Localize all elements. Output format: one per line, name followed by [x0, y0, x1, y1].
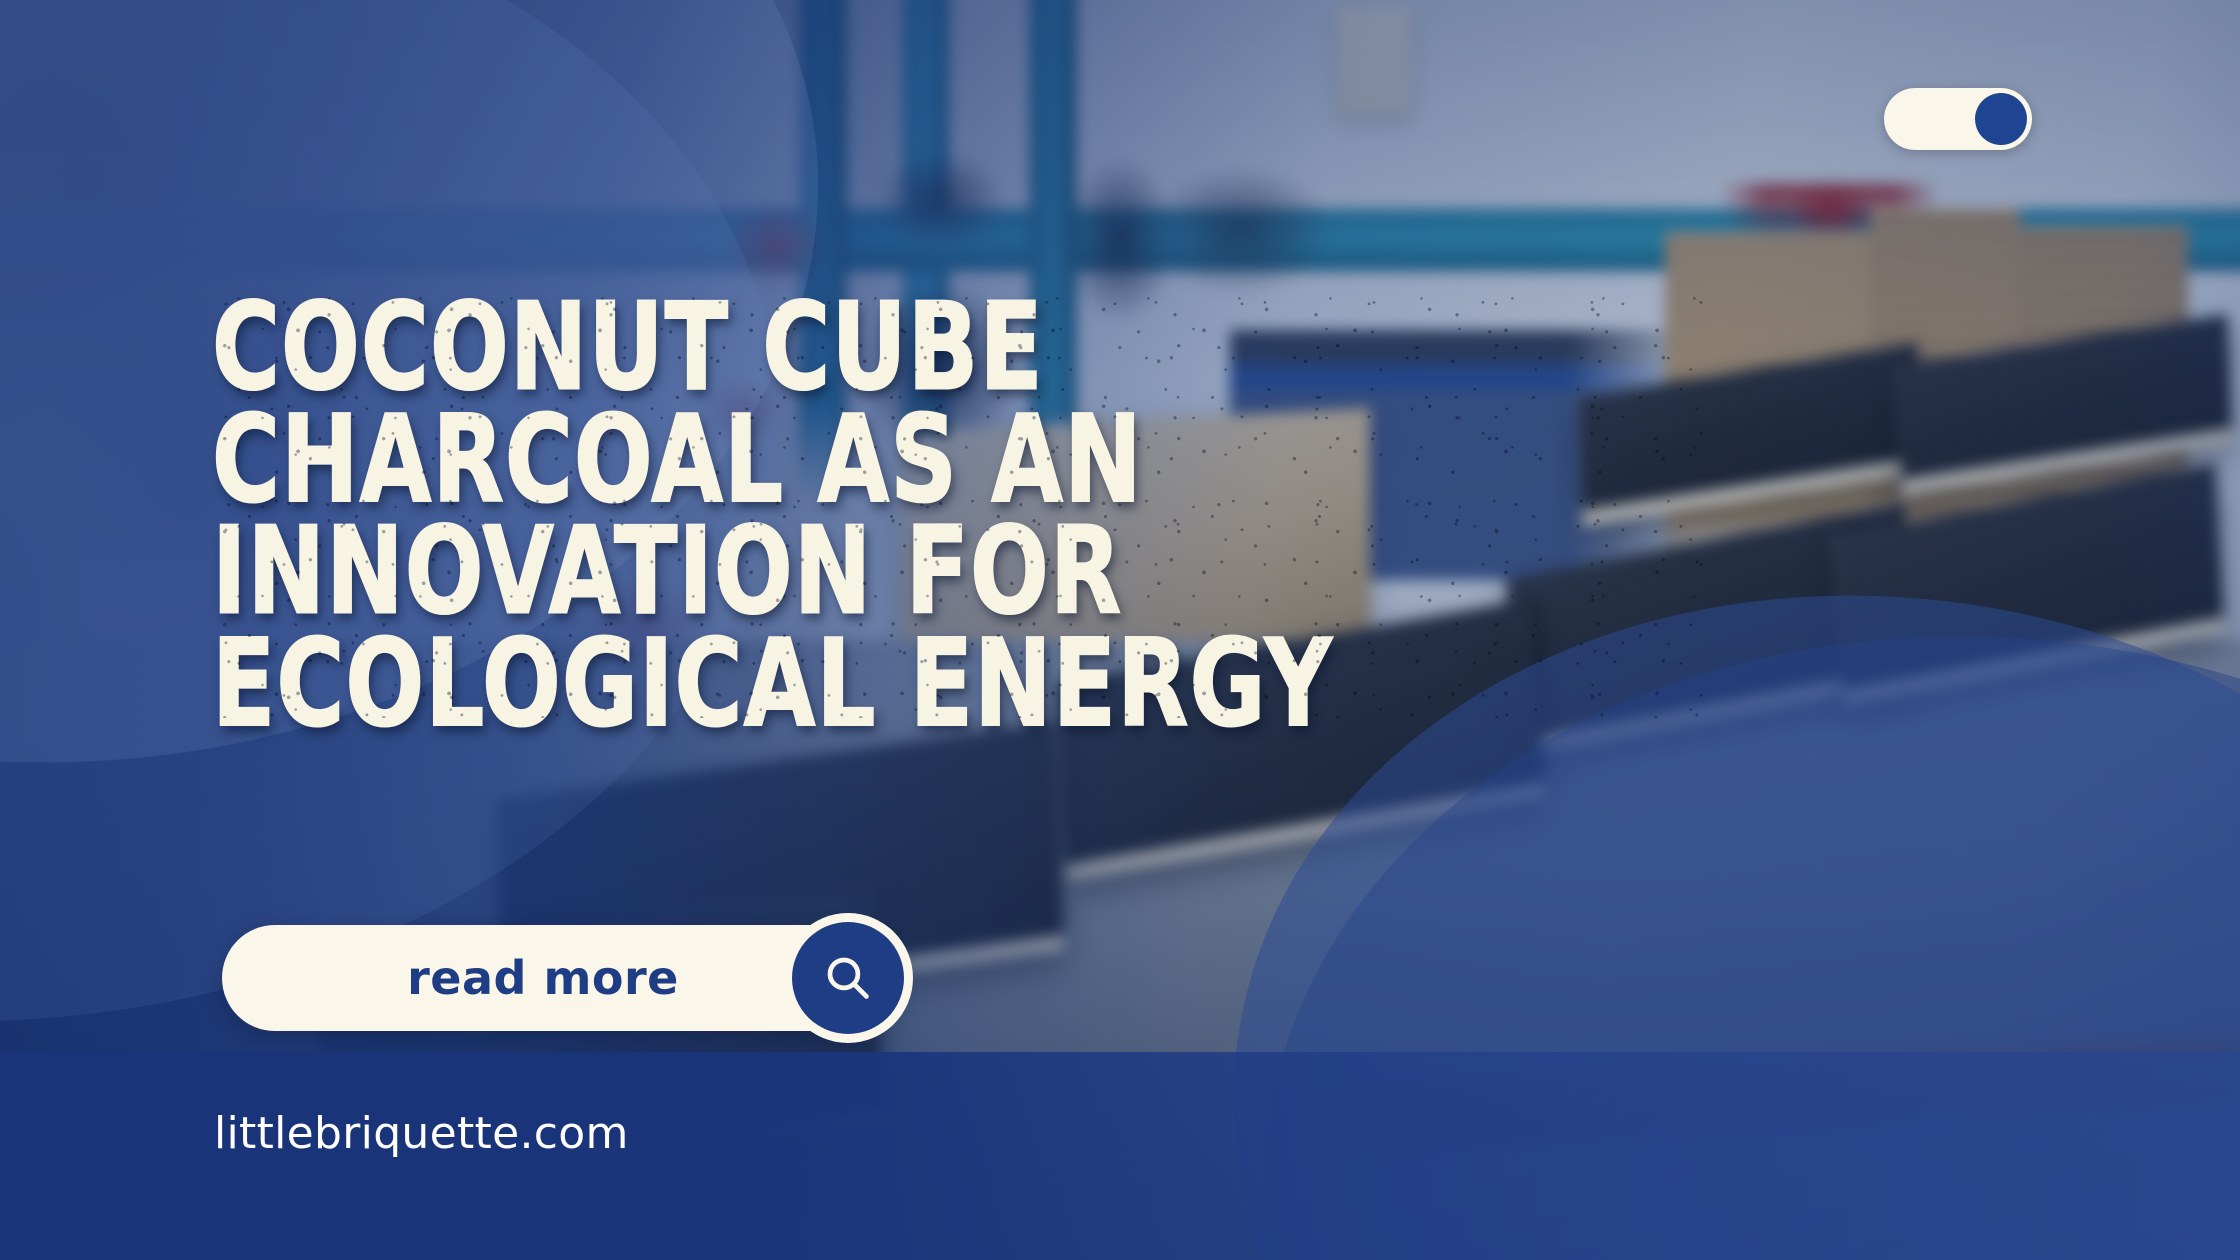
- toggle-knob-icon: [1975, 93, 2027, 145]
- read-more-button[interactable]: read more: [222, 925, 900, 1031]
- banner-canvas: COCONUT CUBE CHARCOAL AS AN INNOVATION F…: [0, 0, 2240, 1260]
- read-more-label: read more: [407, 951, 679, 1005]
- page-title: COCONUT CUBE CHARCOAL AS AN INNOVATION F…: [212, 292, 1736, 741]
- headline-line-2: CHARCOAL AS AN: [212, 404, 1736, 516]
- headline-line-4: ECOLOGICAL ENERGY: [212, 628, 1736, 740]
- footer-website-url[interactable]: littlebriquette.com: [214, 1108, 629, 1159]
- headline-line-1: COCONUT CUBE: [212, 292, 1736, 404]
- toggle-switch[interactable]: [1884, 88, 2032, 150]
- headline-line-3: INNOVATION FOR: [212, 516, 1736, 628]
- search-icon[interactable]: [792, 922, 904, 1034]
